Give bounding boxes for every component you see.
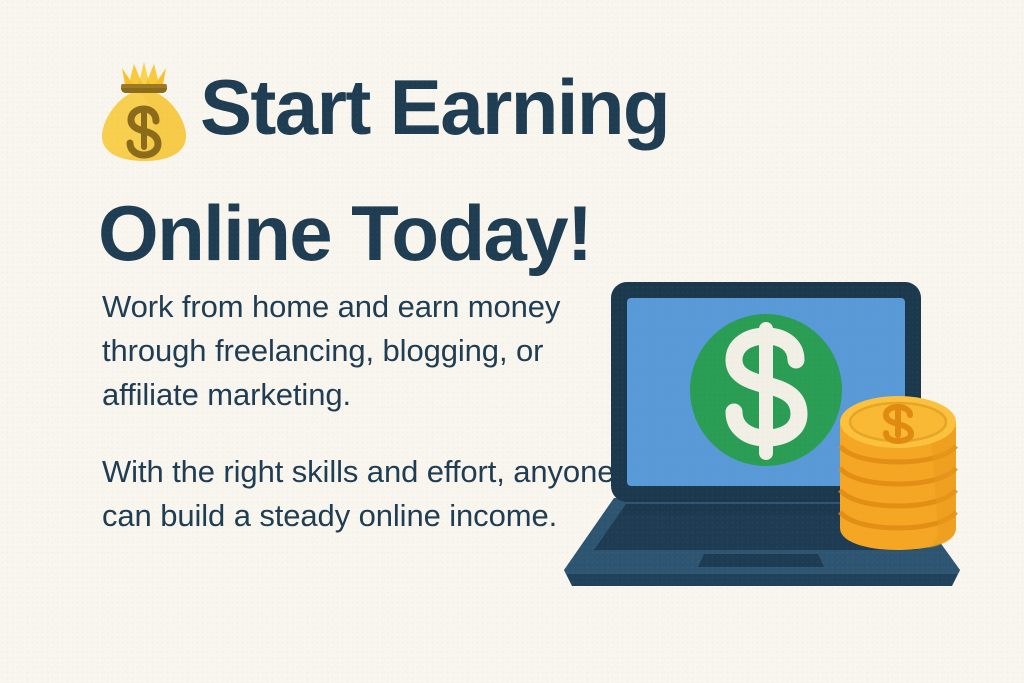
gold-coin-stack-icon <box>840 396 956 550</box>
dollar-sign-in-circle-icon <box>690 314 842 466</box>
money-bag-icon <box>96 60 192 164</box>
poster-canvas: Start Earning Online Today! Work from ho… <box>0 0 1024 683</box>
body-paragraph-1: Work from home and earn money through fr… <box>102 285 622 417</box>
body-copy: Work from home and earn money through fr… <box>102 285 622 538</box>
headline-block: Start Earning Online Today! <box>96 56 756 272</box>
headline-line-2: Online Today! <box>98 194 756 272</box>
headline-first-row: Start Earning <box>96 56 756 164</box>
headline-line-1: Start Earning <box>200 68 669 146</box>
laptop-with-money-illustration <box>556 270 976 600</box>
body-paragraph-2: With the right skills and effort, anyone… <box>102 450 622 538</box>
